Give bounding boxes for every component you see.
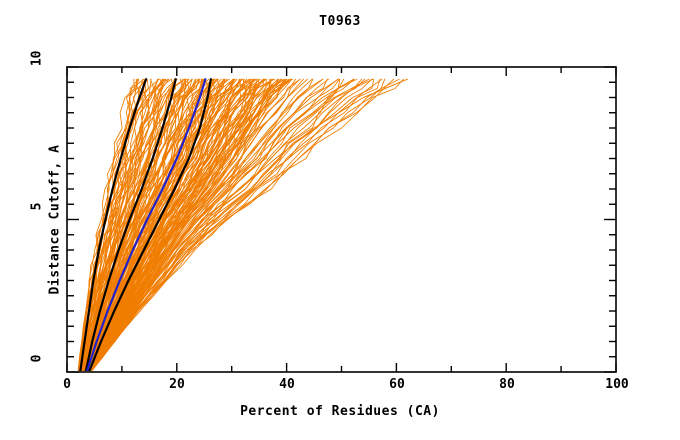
bundle-curve-outer <box>91 79 404 372</box>
plot-canvas <box>0 0 680 440</box>
chart-figure: T0963 Distance Cutoff, A Percent of Resi… <box>0 0 680 440</box>
